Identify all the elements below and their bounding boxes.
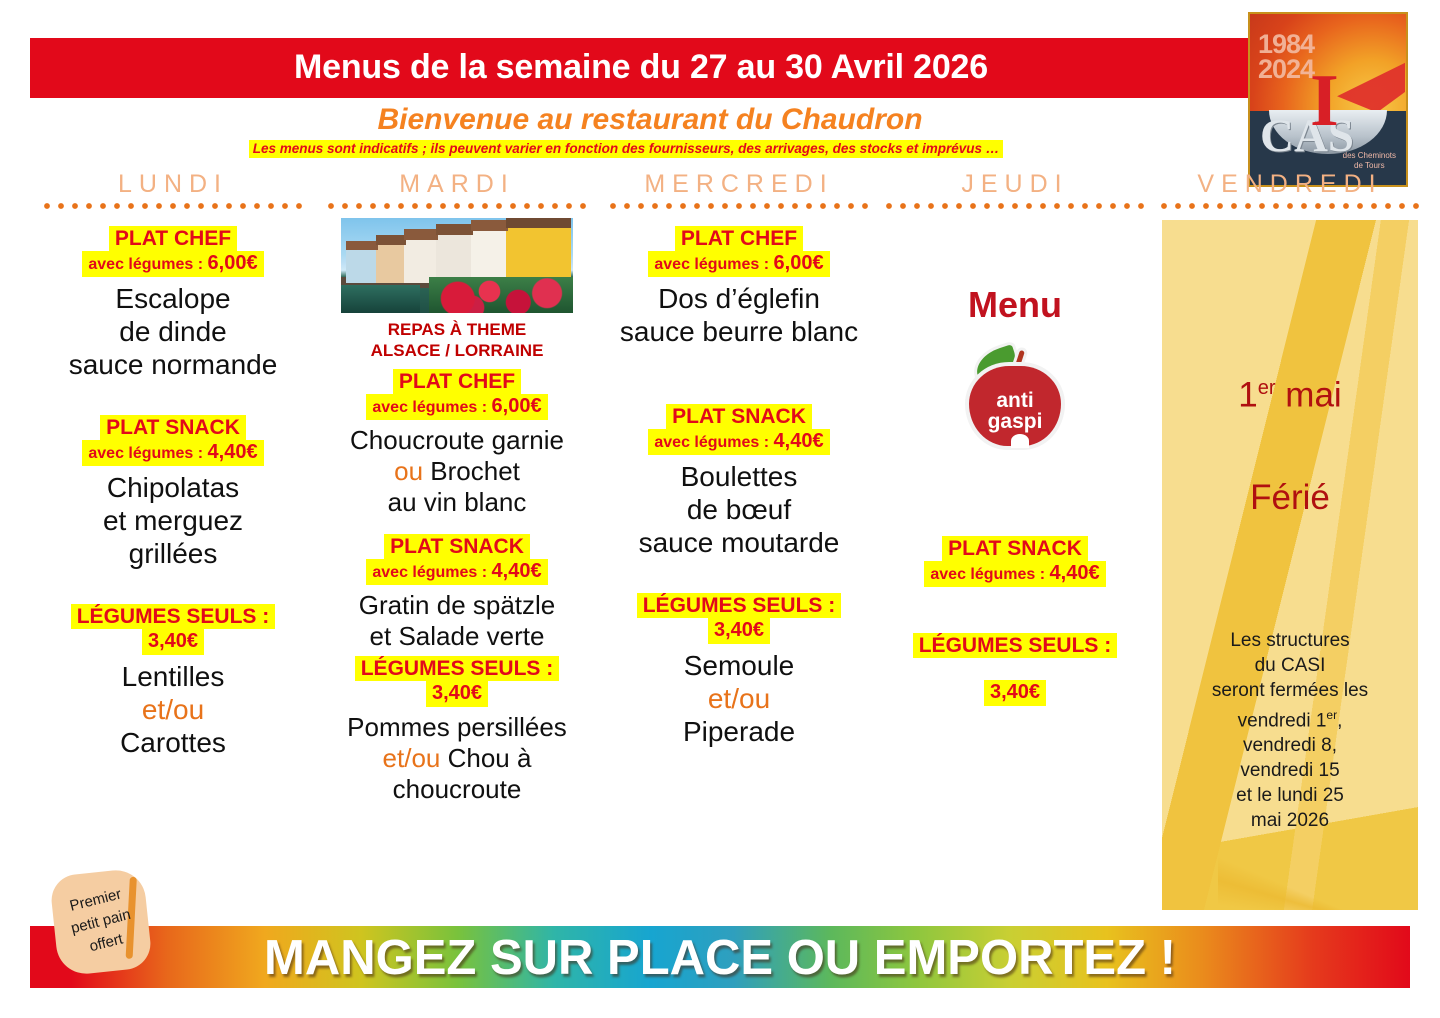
dotted-divider (36, 200, 310, 212)
price-plat-chef: avec légumes : 6,00€ (82, 251, 263, 277)
dotted-divider (886, 200, 1144, 212)
menu-block-plat-snack: PLAT SNACK avec légumes : 4,40€ Gratin d… (322, 534, 592, 652)
day-column-mercredi: MERCREDI PLAT CHEF avec légumes : 6,00€ … (598, 170, 880, 910)
free-bread-badge: Premier petit pain offert (49, 867, 153, 976)
day-title-vendredi: VENDREDI (1156, 170, 1424, 198)
dotted-divider (1156, 200, 1424, 212)
holiday-label: Férié (1162, 478, 1418, 518)
price-legumes-seuls: 3,40€ (426, 681, 488, 707)
holiday-panel: 1er mai Férié Les structures du CASI ser… (1162, 220, 1418, 910)
price-legumes-seuls: 3,40€ (708, 618, 770, 644)
dish-plat-snack: Boulettes de bœuf sauce moutarde (604, 460, 874, 559)
menu-block-plat-chef: PLAT CHEF avec légumes : 6,00€ Dos d’égl… (604, 226, 874, 348)
closure-notice: Les structures du CASI seront fermées le… (1162, 628, 1418, 833)
logo-year-to: 2024 (1258, 57, 1314, 82)
days-grid: LUNDI PLAT CHEF avec légumes : 6,00€ Esc… (0, 170, 1440, 910)
price-plat-chef: avec légumes : 6,00€ (366, 394, 547, 420)
dish-plat-snack: Gratin de spätzle et Salade verte (322, 590, 592, 652)
menu-block-plat-chef: PLAT CHEF avec légumes : 6,00€ Escalope … (36, 226, 310, 381)
holiday-date: 1er mai (1162, 368, 1418, 416)
logo-years: 1984 2024 (1258, 32, 1314, 82)
logo-footer-text: des Cheminots de Tours (1343, 151, 1396, 171)
tag-plat-chef: PLAT CHEF (109, 226, 237, 251)
dish-legumes: Pommes persillées et/ou Chou à choucrout… (322, 712, 592, 805)
tag-legumes-seuls: LÉGUMES SEULS : (637, 593, 842, 618)
dotted-divider (322, 200, 592, 212)
dish-legumes: Semoule et/ou Piperade (604, 649, 874, 748)
price-legumes-seuls: 3,40€ (984, 680, 1046, 706)
menu-block-legumes: LÉGUMES SEULS : 3,40€ Lentilles et/ou Ca… (36, 604, 310, 759)
price-legumes-seuls: 3,40€ (142, 629, 204, 655)
menu-poster: Menus de la semaine du 27 au 30 Avril 20… (0, 0, 1440, 1018)
dish-plat-chef: Choucroute garnie ou Brochet au vin blan… (322, 425, 592, 518)
photo-water (341, 285, 420, 314)
anti-gaspi-icon: anti gaspi (963, 344, 1067, 448)
menu-block-plat-snack: PLAT SNACK avec légumes : 4,40€ (886, 536, 1144, 587)
tag-plat-snack: PLAT SNACK (942, 536, 1088, 561)
logo-brand: CAS (1260, 115, 1354, 157)
logo-footer-line1: des Cheminots (1343, 151, 1396, 161)
day-column-lundi: LUNDI PLAT CHEF avec légumes : 6,00€ Esc… (30, 170, 316, 910)
anti-gaspi-label: anti gaspi (963, 390, 1067, 432)
price-plat-snack: avec légumes : 4,40€ (366, 559, 547, 585)
dish-line-with-etou: et/ou Chou à (322, 743, 592, 774)
dish-line-with-ou: ou Brochet (322, 456, 592, 487)
menu-block-legumes: LÉGUMES SEULS : 3,40€ Pommes persillées … (322, 656, 592, 805)
dish-legumes: Lentilles et/ou Carottes (36, 660, 310, 759)
dish-plat-snack: Chipolatas et merguez grillées (36, 471, 310, 570)
tag-plat-snack: PLAT SNACK (384, 534, 530, 559)
day-column-jeudi: JEUDI Menu anti gaspi PLAT SNACK avec lé… (880, 170, 1150, 910)
price-plat-snack: avec légumes : 4,40€ (648, 429, 829, 455)
day-column-vendredi: VENDREDI 1er mai Férié Les structures du… (1150, 170, 1430, 910)
tag-plat-chef: PLAT CHEF (675, 226, 803, 251)
theme-label: REPAS À THEME ALSACE / LORRAINE (322, 319, 592, 361)
day-title-jeudi: JEUDI (886, 170, 1144, 198)
tag-plat-chef: PLAT CHEF (393, 369, 521, 394)
tag-legumes-seuls: LÉGUMES SEULS : (913, 633, 1118, 658)
badge-text: Premier petit pain offert (47, 879, 154, 966)
menu-block-plat-chef: PLAT CHEF avec légumes : 6,00€ Choucrout… (322, 369, 592, 518)
tag-plat-snack: PLAT SNACK (666, 404, 812, 429)
welcome-subtitle: Bienvenue au restaurant du Chaudron (120, 103, 1180, 137)
footer-message: MANGEZ SUR PLACE OU EMPORTEZ ! (30, 930, 1410, 986)
dish-plat-chef: Dos d’églefin sauce beurre blanc (604, 282, 874, 348)
menu-word: Menu (886, 284, 1144, 326)
tag-legumes-seuls: LÉGUMES SEULS : (71, 604, 276, 629)
dish-plat-chef: Escalope de dinde sauce normande (36, 282, 310, 381)
disclaimer-note: Les menus sont indicatifs ; ils peuvent … (249, 140, 1004, 158)
day-title-mercredi: MERCREDI (604, 170, 874, 198)
alsace-photo (341, 218, 573, 313)
day-title-mardi: MARDI (322, 170, 592, 198)
page-title: Menus de la semaine du 27 au 30 Avril 20… (30, 48, 1252, 87)
tag-plat-snack: PLAT SNACK (100, 415, 246, 440)
day-title-lundi: LUNDI (36, 170, 310, 198)
disclaimer-wrap: Les menus sont indicatifs ; ils peuvent … (0, 140, 1252, 158)
menu-block-legumes: LÉGUMES SEULS : 3,40€ Semoule et/ou Pipe… (604, 593, 874, 748)
logo-brand-accent: I (1310, 66, 1339, 136)
closure-line-vendredi-1er: vendredi 1er, (1162, 703, 1418, 733)
photo-flowers (429, 277, 573, 313)
price-plat-chef: avec légumes : 6,00€ (648, 251, 829, 277)
menu-block-legumes: LÉGUMES SEULS : 3,40€ (886, 633, 1144, 706)
price-plat-snack: avec légumes : 4,40€ (924, 561, 1105, 587)
day-column-mardi: MARDI REPAS À THEME (316, 170, 598, 910)
tag-legumes-seuls: LÉGUMES SEULS : (355, 656, 560, 681)
menu-block-plat-snack: PLAT SNACK avec légumes : 4,40€ Boulette… (604, 404, 874, 559)
dotted-divider (604, 200, 874, 212)
menu-block-plat-snack: PLAT SNACK avec légumes : 4,40€ Chipolat… (36, 415, 310, 570)
casi-logo: 1984 2024 CAS I des Cheminots de Tours (1248, 12, 1408, 187)
price-plat-snack: avec légumes : 4,40€ (82, 440, 263, 466)
